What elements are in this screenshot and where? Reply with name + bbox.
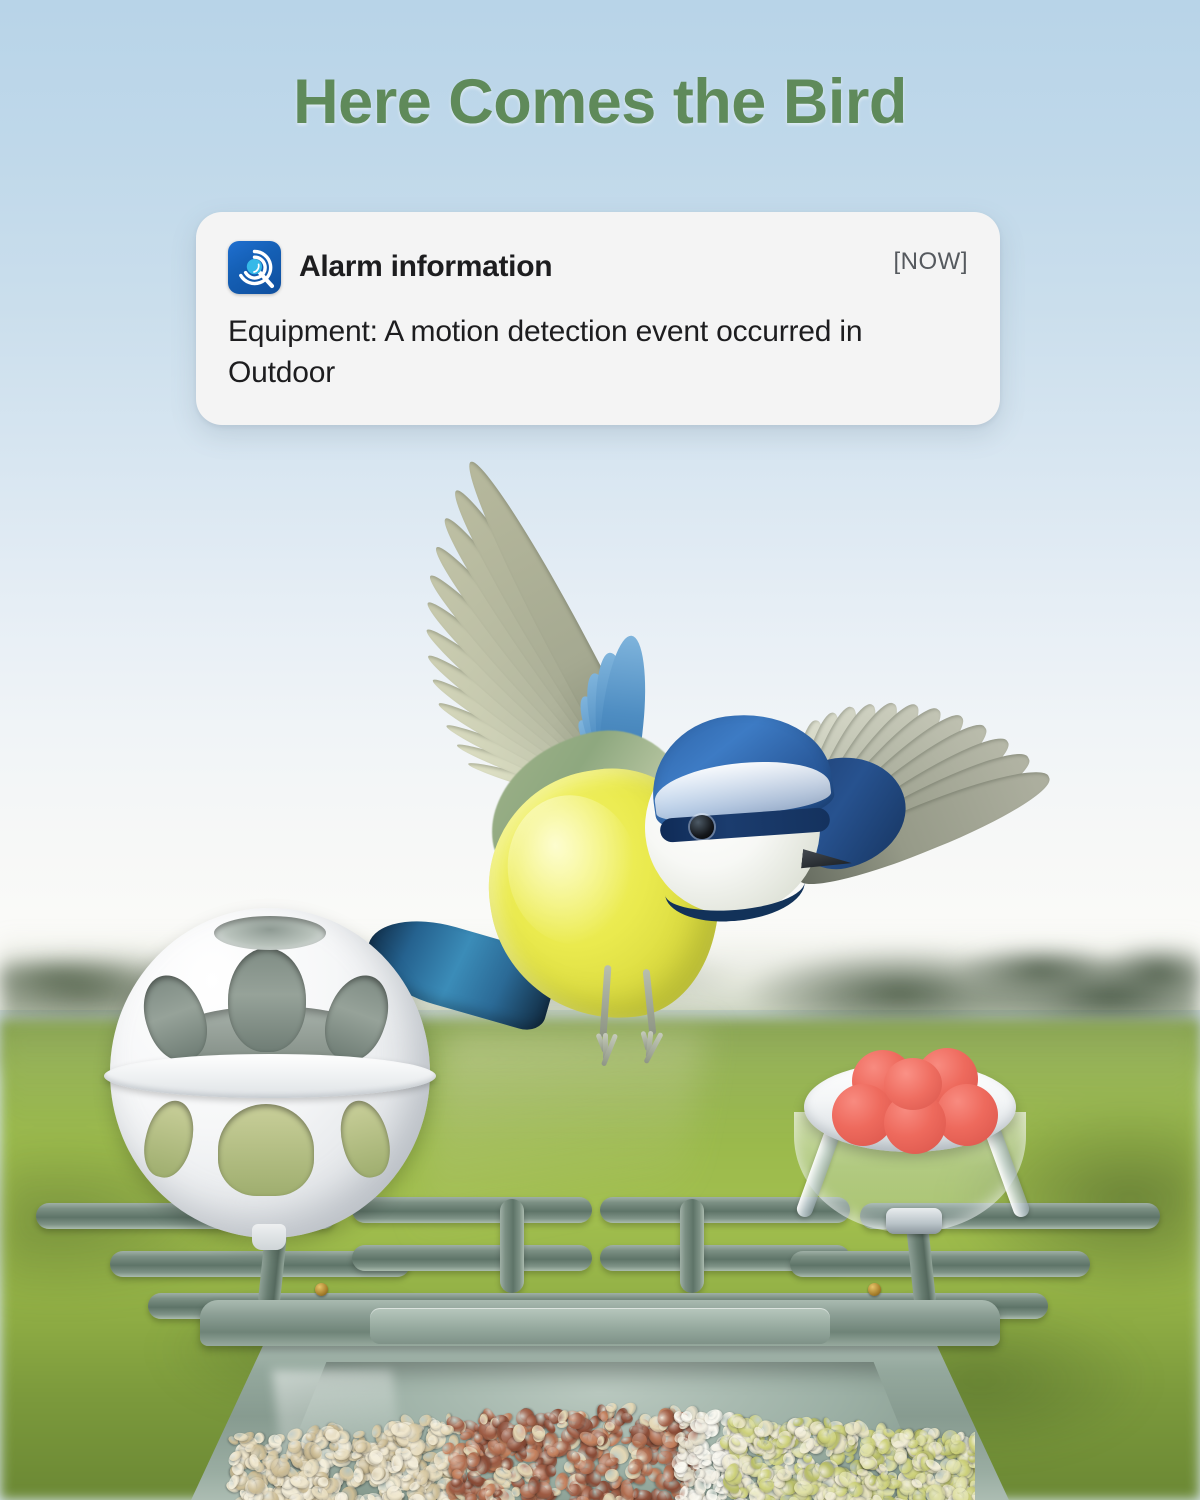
flower-petal-4 <box>936 1084 998 1146</box>
notification-body: Equipment: A motion detection event occu… <box>228 312 960 394</box>
seed-ball-feeder <box>110 908 430 1238</box>
seed <box>972 1491 975 1500</box>
notification-timestamp: [NOW] <box>894 248 969 276</box>
mixed-bird-seed <box>215 1395 975 1500</box>
bird-leg <box>643 969 657 1035</box>
notification-header: Alarm information <box>228 240 968 294</box>
ball-opening-bottom <box>218 1104 314 1196</box>
ball-top-ring <box>214 916 326 950</box>
ball-opening-top <box>228 948 306 1052</box>
notification-title: Alarm information <box>299 250 552 284</box>
page-title: Here Comes the Bird <box>0 66 1200 138</box>
bird-eye <box>690 815 714 839</box>
flower-sensor-device <box>790 1040 1040 1265</box>
alarm-app-icon <box>228 241 281 294</box>
bird-cheek-border <box>663 851 806 924</box>
tray-lid-panel <box>370 1308 830 1344</box>
bird-leg <box>599 965 611 1037</box>
seed <box>480 1413 488 1424</box>
ball-mount-stem <box>252 1224 286 1250</box>
flower-center <box>884 1058 942 1110</box>
seed <box>702 1460 712 1466</box>
device-base-clamp <box>886 1208 942 1234</box>
ball-equator-band <box>104 1054 436 1098</box>
bird-feet <box>550 965 730 1085</box>
alarm-notification-card[interactable]: Alarm information [NOW] Equipment: A mot… <box>196 212 1000 425</box>
